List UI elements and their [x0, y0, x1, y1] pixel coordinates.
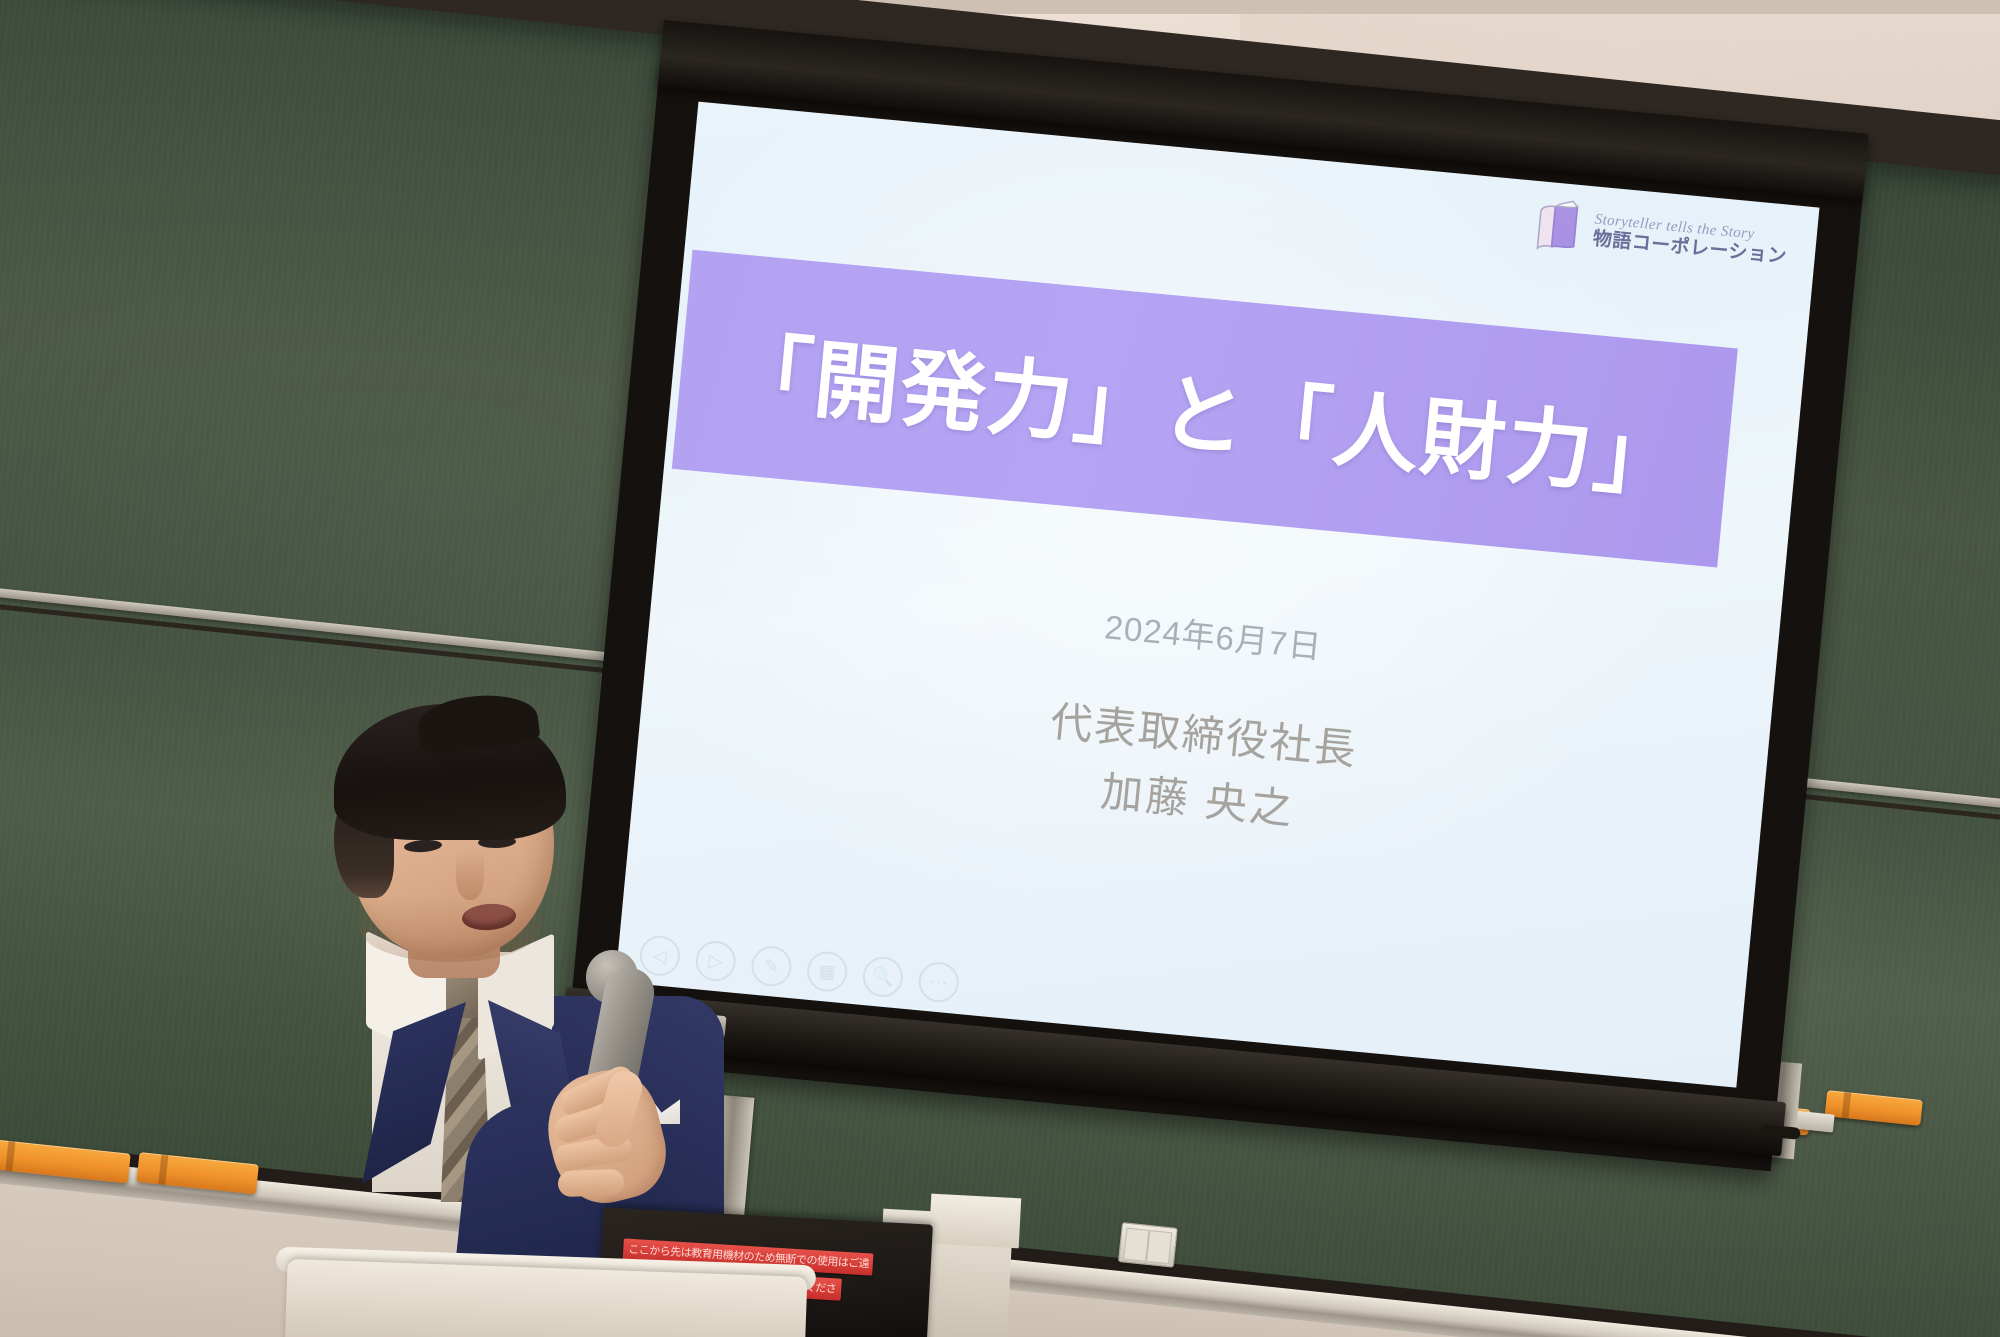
finger [558, 1169, 625, 1197]
open-book-icon [1532, 197, 1589, 258]
wall-outlet[interactable] [1118, 1222, 1178, 1268]
slide-title-band: 「開発力」と「人財力」 [672, 250, 1738, 568]
all-slides-button[interactable]: ▦ [805, 950, 849, 994]
lecture-hall-photo: Storyteller tells the Story 物語コーポレーション 「… [0, 0, 2000, 1337]
presentation-slide[interactable]: Storyteller tells the Story 物語コーポレーション 「… [615, 102, 1819, 1088]
desk-side-top [929, 1194, 1021, 1249]
nose [456, 850, 484, 900]
more-options-button[interactable]: ⋯ [917, 960, 961, 1004]
projection-screen: Storyteller tells the Story 物語コーポレーション 「… [559, 20, 1869, 1249]
pen-tool-button[interactable]: ✎ [750, 945, 794, 989]
slide-title: 「開発力」と「人財力」 [723, 302, 1687, 515]
company-logo: Storyteller tells the Story 物語コーポレーション [1532, 197, 1790, 277]
logo-text-block: Storyteller tells the Story 物語コーポレーション [1592, 213, 1789, 267]
zoom-button[interactable]: 🔍 [861, 955, 905, 999]
jaw-shading [360, 896, 540, 962]
